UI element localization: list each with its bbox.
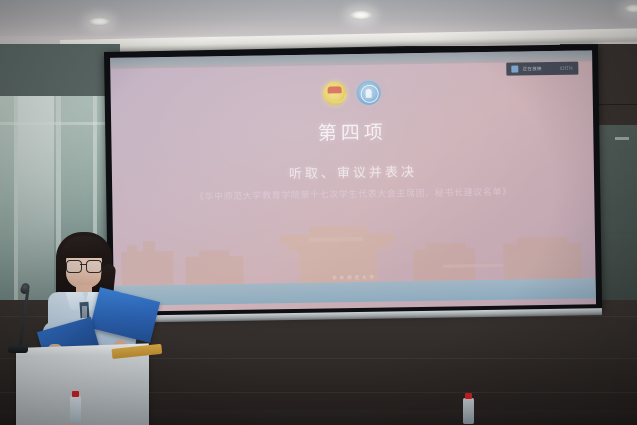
eyeglasses-icon [66,260,102,271]
hair-fringe [62,236,106,258]
microphone-base [8,345,28,353]
university-seal-icon [356,81,380,105]
projection-screen[interactable]: 正在放映 幻灯片 第四项 听取、审议并表决 《华中师范大学教育学院第十七次学生代… [110,50,596,312]
presentation-status-chip[interactable]: 正在放映 幻灯片 [507,62,579,76]
student-presenter [30,228,148,360]
slide-logos [111,77,593,109]
powerpoint-icon [512,65,519,72]
window-mullion [0,122,108,125]
slide-document-name: 《华中师范大学教育学院第十七次学生代表大会主席团、秘书长建议名单》 [112,183,594,204]
lens-left [66,260,82,273]
slide-subtitle: 听取、审议并表决 [112,158,594,185]
window-mullion [14,96,18,328]
downlight-icon [624,4,637,13]
status-chip-label: 正在放映 [523,66,542,72]
screenshot-root: 正在放映 幻灯片 第四项 听取、审议并表决 《华中师范大学教育学院第十七次学生代… [0,0,637,425]
status-chip-right-label: 幻灯片 [560,65,574,71]
downlight-icon [88,17,111,26]
youth-league-emblem-icon [322,81,346,105]
lens-right [86,260,102,273]
water-bottle [70,396,81,422]
water-bottle [463,398,474,424]
slide-title: 第四项 [111,114,593,149]
projection-screen-frame: 正在放映 幻灯片 第四项 听取、审议并表决 《华中师范大学教育学院第十七次学生代… [104,44,602,318]
downlight-icon [349,10,373,20]
lectern [16,352,149,425]
